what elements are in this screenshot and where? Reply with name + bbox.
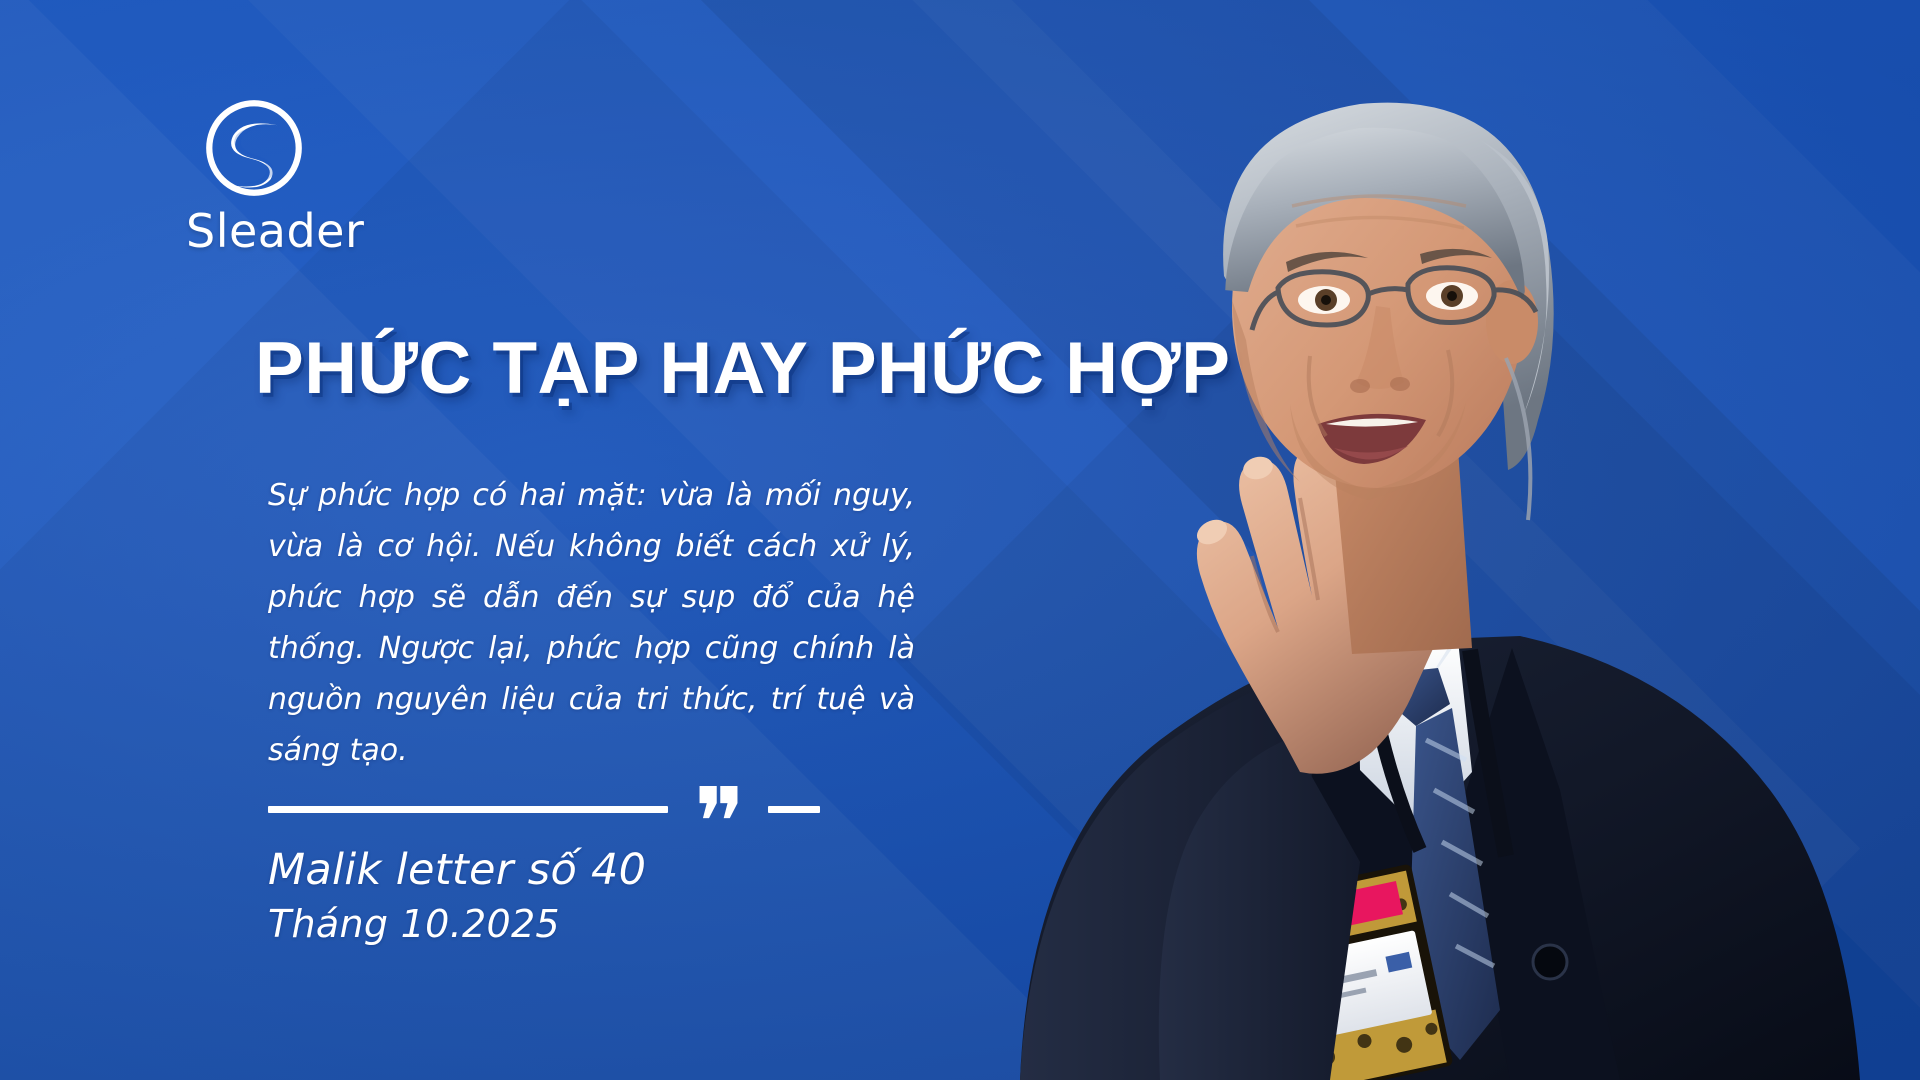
- head: [1223, 103, 1554, 500]
- sleader-globe-s-icon: [202, 96, 306, 200]
- suit-button: [1533, 945, 1567, 979]
- divider-rule-short: [768, 806, 820, 813]
- issue-title: Malik letter số 40: [268, 842, 646, 898]
- brand-wordmark: Sleader: [186, 204, 426, 258]
- quote-text: Sự phức hợp có hai mặt: vừa là mối nguy,…: [268, 470, 915, 776]
- divider: ❞: [268, 788, 888, 830]
- brand-logo[interactable]: Sleader: [186, 96, 426, 258]
- poster-canvas: Sleader PHỨC TẠP HAY PHỨC HỢP Sự phức hợ…: [0, 0, 1920, 1080]
- speaker-portrait-photo: [860, 0, 1920, 1080]
- footer: Malik letter số 40 Tháng 10.2025: [268, 842, 646, 950]
- issue-date: Tháng 10.2025: [268, 898, 646, 950]
- page-title: PHỨC TẠP HAY PHỨC HỢP: [255, 327, 1230, 410]
- portrait-artwork: [860, 0, 1920, 1080]
- divider-rule-long: [268, 806, 668, 813]
